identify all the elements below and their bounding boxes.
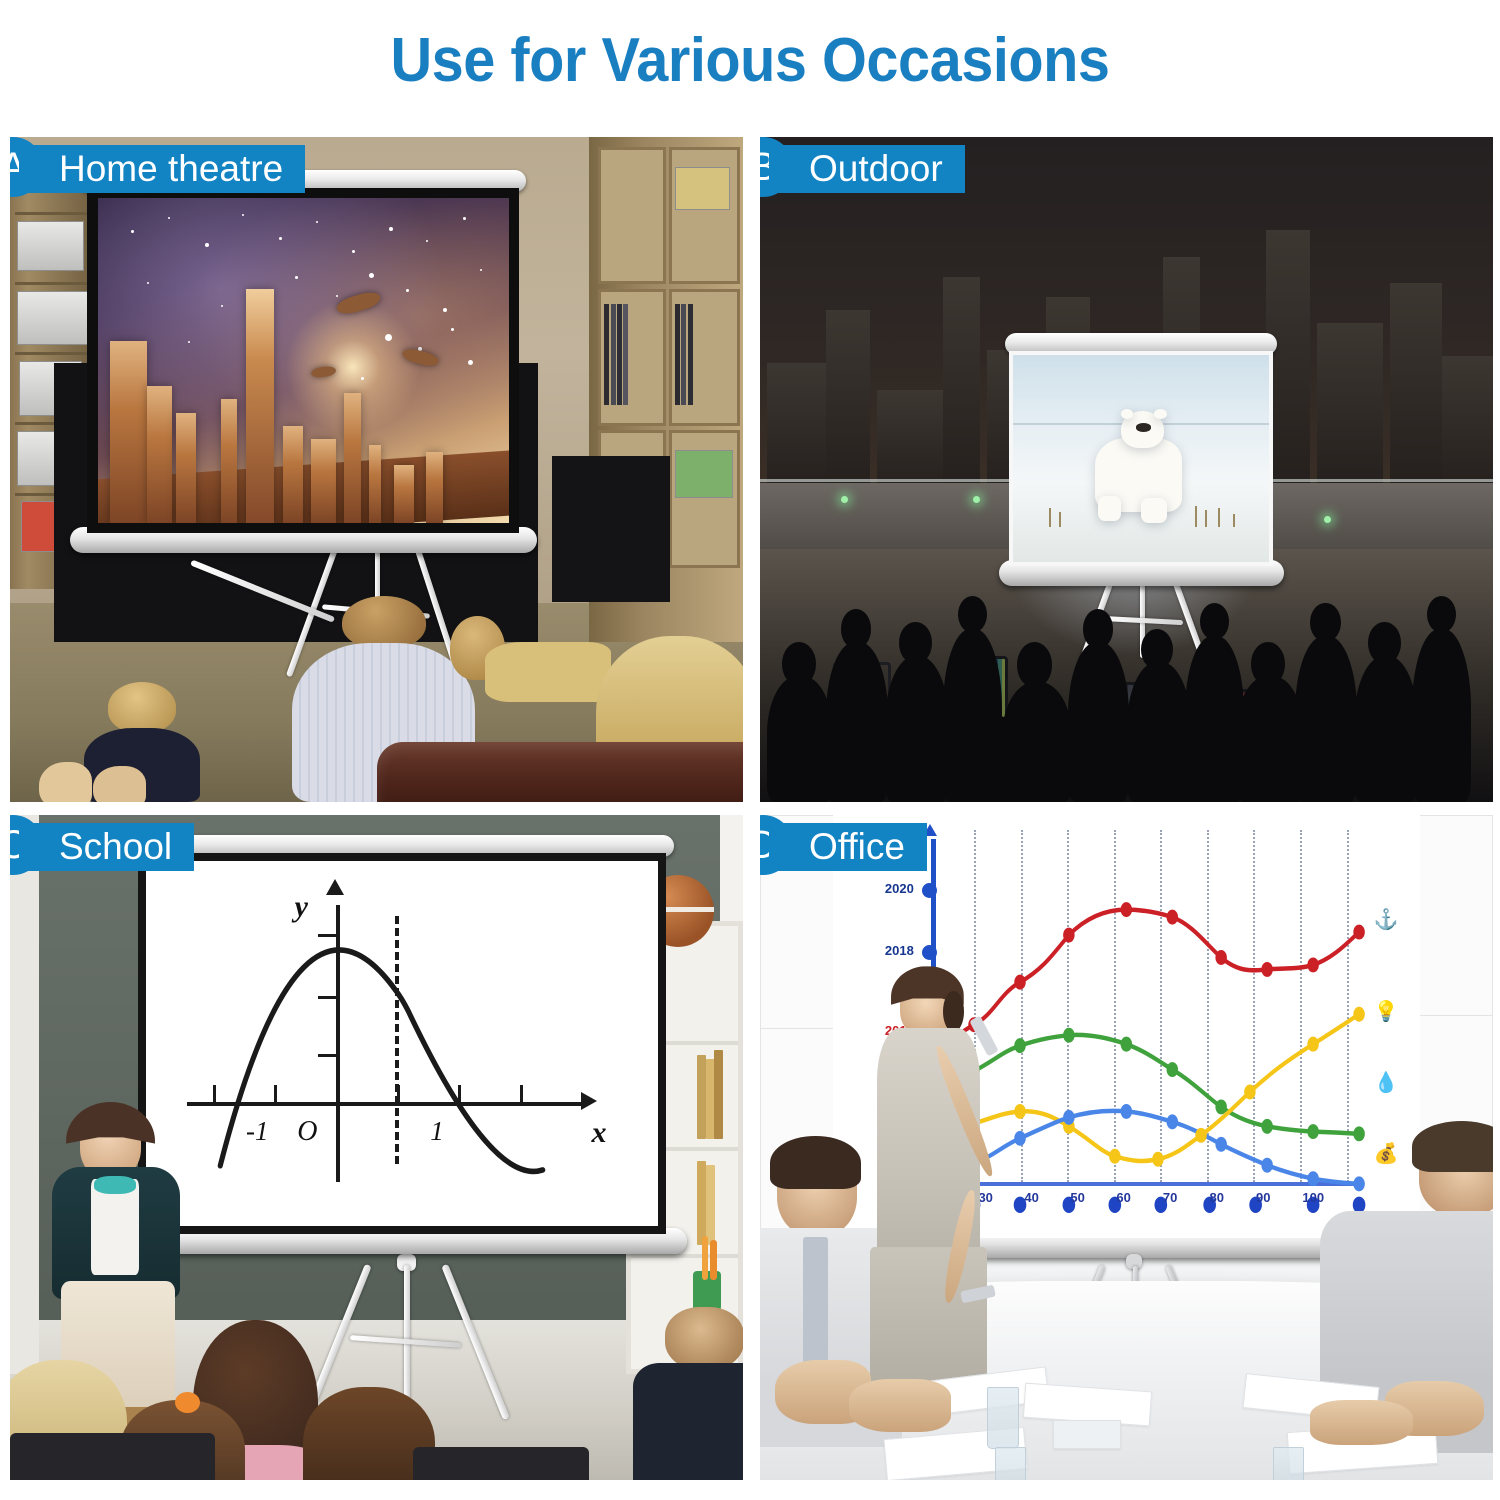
screen-surface <box>87 188 519 532</box>
panel-office[interactable]: 2020 2018 2016 2014 <box>760 815 1493 1480</box>
origin-label: O <box>297 1116 317 1148</box>
sofa <box>377 742 744 802</box>
x-tick-label-40: 40 <box>1009 1190 1055 1205</box>
lightbulb-icon: 💡 <box>1374 1002 1399 1022</box>
rooftop-night-scene <box>760 137 1493 802</box>
chair-back <box>10 1433 215 1480</box>
skyline-building <box>767 363 826 496</box>
flask-icon: 💧 <box>1374 1073 1399 1093</box>
student-seated <box>633 1307 743 1480</box>
skyline-building <box>943 277 980 496</box>
skyline-building <box>1442 356 1493 496</box>
projected-image-scifi <box>98 198 509 523</box>
projector-screen-a[interactable] <box>87 170 519 552</box>
projector-screen-c[interactable]: -1 O 1 x y <box>138 835 666 1254</box>
badge-label-b: Outdoor <box>769 145 965 193</box>
skyline-building <box>826 310 870 496</box>
parabola-curve <box>146 861 658 1226</box>
left-wall-edge <box>10 815 39 1374</box>
panel-badge-b: B Outdoor <box>760 145 965 193</box>
phone-on-table <box>1053 1420 1121 1449</box>
living-room-scene <box>10 137 743 802</box>
colleague-hands-right <box>1258 1374 1493 1480</box>
presenter <box>870 975 987 1387</box>
chair-back <box>413 1447 589 1480</box>
x-tick-label-50: 50 <box>1055 1190 1101 1205</box>
screen-surface <box>1009 351 1273 566</box>
skyline-building <box>1390 283 1441 496</box>
classroom-scene: -1 O 1 x y <box>10 815 743 1480</box>
panel-badge-d: D Office <box>760 823 927 871</box>
badge-label-c: School <box>19 823 194 871</box>
y-axis-label: y <box>295 890 308 924</box>
x-tick-label-90: 90 <box>1240 1190 1286 1205</box>
anchor-icon: ⚓ <box>1374 910 1399 930</box>
skyline-building <box>1317 323 1383 496</box>
colleague-hands-left <box>775 1360 995 1480</box>
x-axis-label: x <box>592 1116 607 1150</box>
bare-feet <box>39 762 156 802</box>
page-title: Use for Various Occasions <box>53 28 1448 93</box>
projector-screen-b[interactable] <box>1009 333 1273 586</box>
water-glass <box>995 1447 1026 1480</box>
panel-outdoor[interactable]: B Outdoor <box>760 137 1493 802</box>
projected-image-parabola: -1 O 1 x y <box>146 861 658 1226</box>
badge-label-a: Home theatre <box>19 145 305 193</box>
screen-surface: -1 O 1 x y <box>138 853 666 1234</box>
meeting-room-scene: 2020 2018 2016 2014 <box>760 815 1493 1480</box>
badge-label-d: Office <box>769 823 927 871</box>
x-tick-label-1: 1 <box>430 1116 444 1147</box>
panel-badge-c: C School <box>10 823 194 871</box>
child-viewer-right <box>450 616 611 702</box>
wall-dark-panel-2 <box>552 456 669 602</box>
projected-image-polar-bear <box>1013 355 1269 562</box>
panel-badge-a: A Home theatre <box>10 145 305 193</box>
x-tick-label-70: 70 <box>1147 1190 1193 1205</box>
x-tick-label-neg1: -1 <box>246 1116 269 1147</box>
occasions-grid: A Home theatre <box>10 137 1493 1492</box>
panel-school[interactable]: -1 O 1 x y <box>10 815 743 1480</box>
x-tick-label-80: 80 <box>1194 1190 1240 1205</box>
x-tick-label-60: 60 <box>1101 1190 1147 1205</box>
panel-home-theatre[interactable]: A Home theatre <box>10 137 743 802</box>
